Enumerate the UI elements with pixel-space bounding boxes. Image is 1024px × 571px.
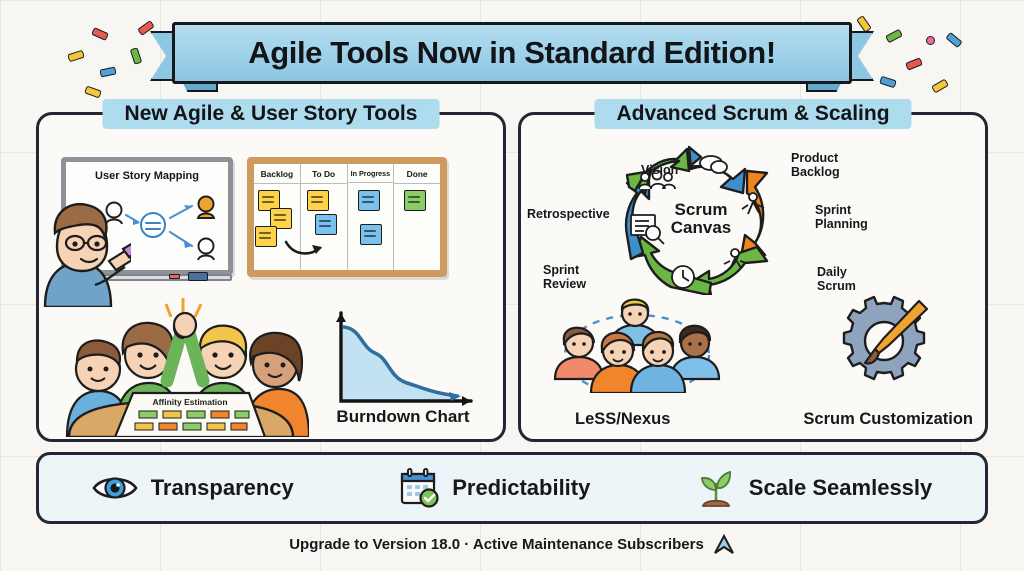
- kanban-card[interactable]: [315, 214, 337, 235]
- banner-body: Agile Tools Now in Standard Edition!: [172, 22, 852, 84]
- benefit-transparency: Transparency: [92, 473, 294, 503]
- kanban-column-header: In Progress: [348, 165, 394, 183]
- affinity-estimation-team: Affinity Estimation: [53, 289, 309, 437]
- kanban-column[interactable]: In Progress: [348, 164, 395, 270]
- cycle-label-sprint-review: SprintReview: [543, 263, 586, 291]
- confetti-piece: [905, 57, 923, 70]
- benefit-label: Predictability: [452, 475, 590, 501]
- confetti-piece: [885, 29, 903, 44]
- burndown-chart: Burndown Chart: [319, 299, 487, 425]
- seedling-icon: [696, 468, 736, 508]
- confetti-piece: [84, 86, 102, 99]
- less-nexus-label: LeSS/Nexus: [575, 410, 670, 429]
- story-hub-icon: [140, 212, 166, 238]
- footer-text: Upgrade to Version 18.0 · Active Mainten…: [289, 536, 704, 553]
- panel-left-header: New Agile & User Story Tools: [103, 99, 440, 129]
- burndown-label: Burndown Chart: [319, 407, 487, 427]
- panel-right-header: Advanced Scrum & Scaling: [594, 99, 911, 129]
- confetti-piece: [931, 79, 949, 94]
- banner-title: Agile Tools Now in Standard Edition!: [248, 35, 776, 71]
- cycle-label-daily-scrum: DailyScrum: [817, 265, 856, 293]
- cycle-label-vision: Vision: [641, 163, 678, 177]
- eraser-icon: [188, 272, 208, 281]
- cycle-label-retrospective: Retrospective: [527, 207, 610, 221]
- kanban-column-header: To Do: [301, 165, 347, 184]
- cycle-label-product-backlog: ProductBacklog: [791, 151, 840, 179]
- gear-brush-icon: [835, 295, 933, 387]
- eye-icon: [92, 473, 138, 503]
- benefit-scale: Scale Seamlessly: [696, 468, 932, 508]
- confetti-piece: [879, 76, 897, 89]
- benefits-strip: Transparency Predictability: [36, 452, 988, 524]
- kanban-column[interactable]: Done: [394, 164, 440, 270]
- benefit-predictability: Predictability: [399, 468, 590, 508]
- cycle-label-sprint-planning: SprintPlanning: [815, 203, 868, 231]
- customization-label: Scrum Customization: [803, 410, 973, 429]
- affinity-table-title: Affinity Estimation: [152, 397, 227, 407]
- less-nexus-people: [549, 297, 725, 393]
- benefit-label: Transparency: [151, 475, 294, 501]
- infographic-canvas: Agile Tools Now in Standard Edition! New…: [0, 0, 1024, 571]
- kanban-board: BacklogTo DoIn ProgressDone: [247, 157, 447, 277]
- confetti-piece: [130, 47, 143, 65]
- panel-agile-tools: New Agile & User Story Tools User Story …: [36, 112, 506, 442]
- marker-icon: [169, 274, 180, 279]
- kanban-move-arrow: [284, 236, 326, 256]
- kanban-card[interactable]: [255, 226, 277, 247]
- confetti-piece: [945, 32, 962, 48]
- confetti-piece: [91, 27, 109, 41]
- kanban-column-header: Done: [394, 165, 440, 184]
- confetti-piece: [926, 36, 935, 45]
- footer: Upgrade to Version 18.0 · Active Mainten…: [0, 534, 1024, 554]
- confetti-piece: [99, 66, 116, 77]
- scrum-canvas-center-label: Scrum Canvas: [671, 201, 731, 237]
- kanban-card[interactable]: [404, 190, 426, 211]
- panel-advanced-scrum: Advanced Scrum & Scaling: [518, 112, 988, 442]
- kanban-card[interactable]: [358, 190, 380, 211]
- kanban-column-header: Backlog: [254, 165, 300, 184]
- trend-arrow-icon: [713, 534, 735, 554]
- kanban-card[interactable]: [307, 190, 329, 211]
- benefit-label: Scale Seamlessly: [749, 475, 932, 501]
- title-banner: Agile Tools Now in Standard Edition!: [150, 22, 874, 90]
- kanban-card[interactable]: [360, 224, 382, 245]
- calendar-check-icon: [399, 468, 439, 508]
- confetti-piece: [67, 50, 85, 63]
